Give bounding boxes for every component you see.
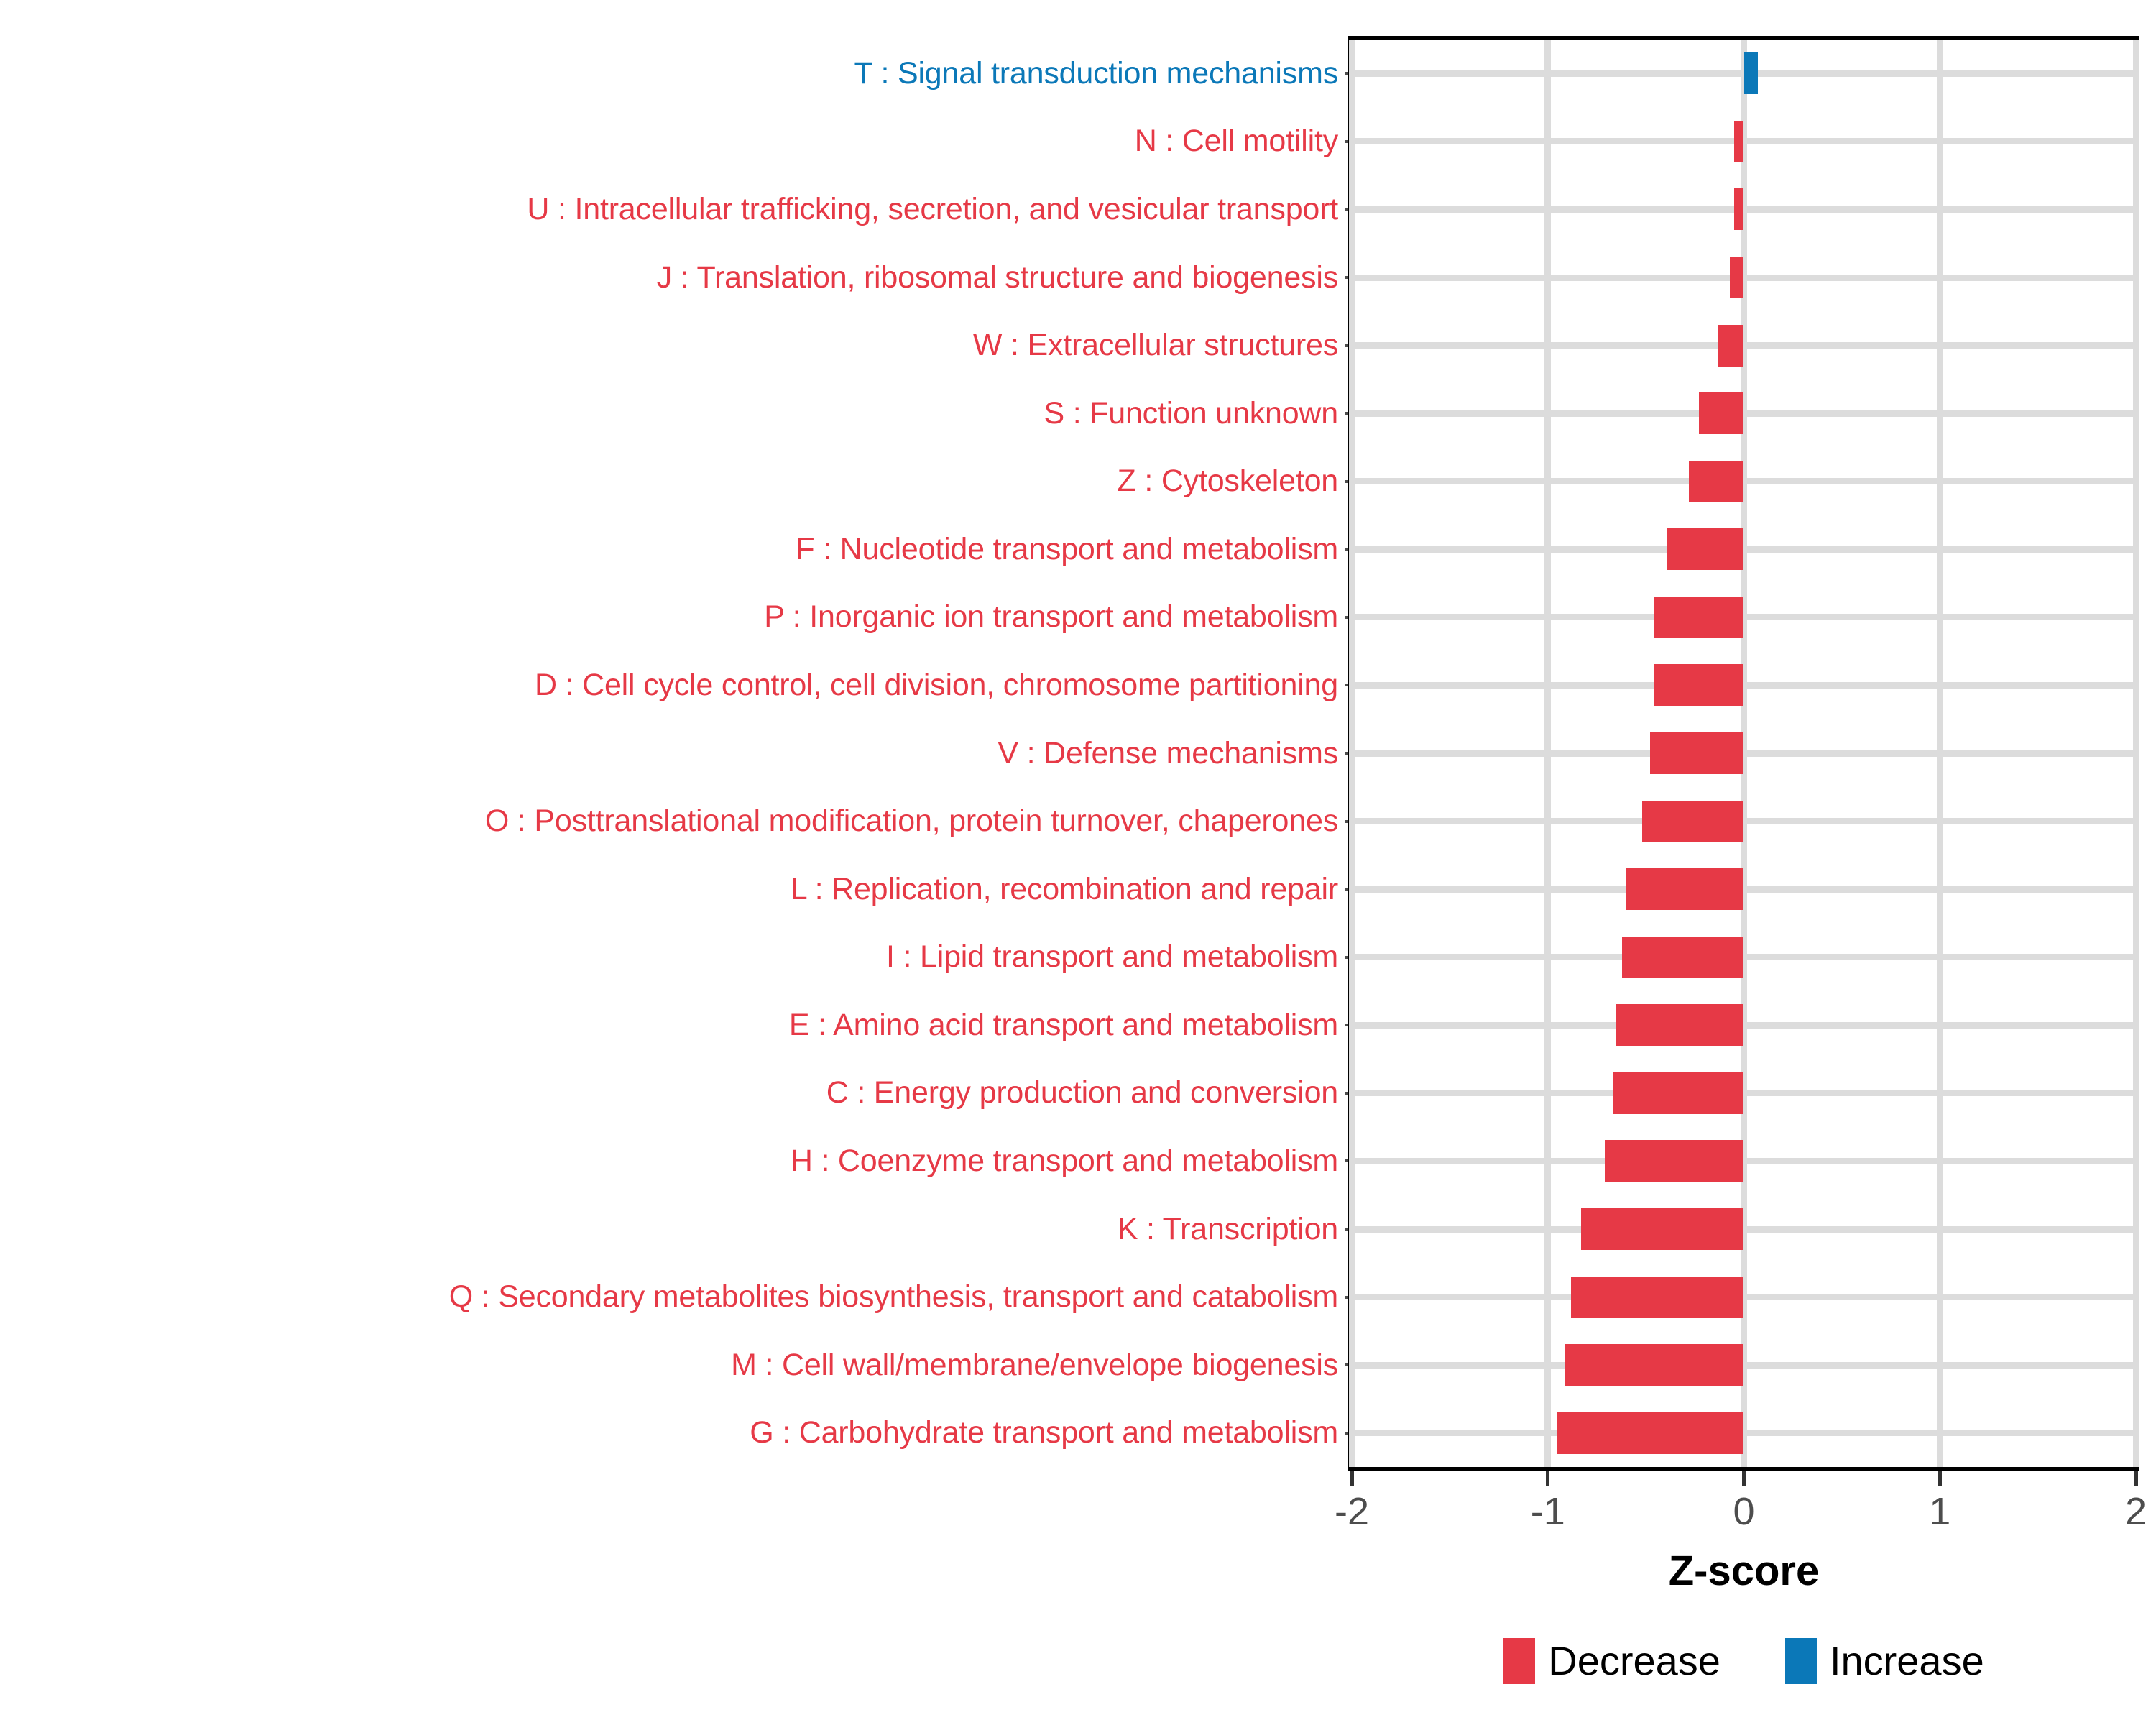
y-axis-label-row: G : Carbohydrate transport and metabolis… xyxy=(0,1409,1345,1458)
bar[interactable] xyxy=(1689,461,1743,502)
y-axis-label: E : Amino acid transport and metabolism xyxy=(789,1010,1338,1041)
y-axis-label: O : Posttranslational modification, prot… xyxy=(485,806,1338,837)
y-axis-label-row: S : Function unknown xyxy=(0,389,1345,438)
y-axis-label-row: I : Lipid transport and metabolism xyxy=(0,933,1345,982)
y-axis-label-row: J : Translation, ribosomal structure and… xyxy=(0,253,1345,302)
y-gridline xyxy=(1352,546,2136,553)
y-axis-label: L : Replication, recombination and repai… xyxy=(791,874,1338,905)
y-axis-label: H : Coenzyme transport and metabolism xyxy=(791,1146,1338,1177)
y-axis-label-row: L : Replication, recombination and repai… xyxy=(0,865,1345,914)
y-axis-label-row: H : Coenzyme transport and metabolism xyxy=(0,1136,1345,1185)
bar[interactable] xyxy=(1622,937,1743,978)
x-axis-tick-label: 1 xyxy=(1929,1489,1950,1534)
legend-swatch-icon xyxy=(1785,1638,1817,1684)
y-axis-label: I : Lipid transport and metabolism xyxy=(886,942,1338,972)
y-axis-label: U : Intracellular trafficking, secretion… xyxy=(527,194,1338,225)
y-axis-label-row: D : Cell cycle control, cell division, c… xyxy=(0,661,1345,709)
bar[interactable] xyxy=(1730,257,1743,298)
bar[interactable] xyxy=(1642,801,1744,842)
y-axis-label-row: P : Inorganic ion transport and metaboli… xyxy=(0,593,1345,642)
y-axis-label: Q : Secondary metabolites biosynthesis, … xyxy=(449,1282,1338,1312)
bar[interactable] xyxy=(1650,732,1744,774)
y-axis-label: P : Inorganic ion transport and metaboli… xyxy=(764,602,1338,632)
y-axis-label: M : Cell wall/membrane/envelope biogenes… xyxy=(731,1350,1338,1381)
y-gridline xyxy=(1352,750,2136,757)
x-axis-tick xyxy=(2134,1471,2138,1486)
y-axis-label: W : Extracellular structures xyxy=(973,330,1338,361)
y-gridline xyxy=(1352,1430,2136,1436)
bar[interactable] xyxy=(1616,1004,1743,1046)
bar[interactable] xyxy=(1667,528,1743,570)
y-axis-label: V : Defense mechanisms xyxy=(998,738,1338,769)
y-gridline xyxy=(1352,1158,2136,1164)
y-axis-label-row: V : Defense mechanisms xyxy=(0,729,1345,778)
y-axis-label-row: O : Posttranslational modification, prot… xyxy=(0,797,1345,846)
y-axis-label: N : Cell motility xyxy=(1135,126,1338,157)
x-axis-tick-label: 2 xyxy=(2125,1489,2147,1534)
y-axis-label-row: U : Intracellular trafficking, secretion… xyxy=(0,185,1345,234)
y-gridline xyxy=(1352,1294,2136,1300)
bar[interactable] xyxy=(1734,188,1744,230)
y-gridline xyxy=(1352,138,2136,144)
y-gridline xyxy=(1352,886,2136,893)
bar[interactable] xyxy=(1654,597,1743,638)
y-gridline xyxy=(1352,1226,2136,1233)
bar[interactable] xyxy=(1571,1276,1743,1318)
y-axis-label: K : Transcription xyxy=(1118,1214,1338,1245)
y-axis-label-row: Z : Cytoskeleton xyxy=(0,457,1345,506)
x-axis-tick xyxy=(1546,1471,1549,1486)
plot-area xyxy=(1352,40,2136,1467)
bar[interactable] xyxy=(1565,1344,1743,1386)
legend-item[interactable]: Decrease xyxy=(1503,1637,1720,1684)
x-axis-tick-label: 0 xyxy=(1733,1489,1754,1534)
y-gridline xyxy=(1352,682,2136,689)
bar[interactable] xyxy=(1744,52,1758,94)
legend-item[interactable]: Increase xyxy=(1785,1637,1984,1684)
y-axis-label-row: E : Amino acid transport and metabolism xyxy=(0,1000,1345,1049)
chart-legend: DecreaseIncrease xyxy=(1348,1637,2139,1684)
y-gridline xyxy=(1352,614,2136,620)
y-axis-label-row: C : Energy production and conversion xyxy=(0,1069,1345,1118)
bar[interactable] xyxy=(1718,325,1743,367)
x-axis-title: Z-score xyxy=(1348,1547,2139,1595)
y-axis-labels: T : Signal transduction mechanismsN : Ce… xyxy=(0,65,1345,1471)
bar[interactable] xyxy=(1581,1208,1743,1250)
y-axis-label-row: M : Cell wall/membrane/envelope biogenes… xyxy=(0,1340,1345,1389)
y-axis-label: J : Translation, ribosomal structure and… xyxy=(657,262,1338,293)
y-axis-label: C : Energy production and conversion xyxy=(826,1077,1338,1108)
legend-label: Increase xyxy=(1830,1637,1984,1684)
y-axis-label-row: N : Cell motility xyxy=(0,117,1345,166)
y-gridline xyxy=(1352,342,2136,349)
y-gridline xyxy=(1352,1090,2136,1096)
y-gridline xyxy=(1352,275,2136,281)
x-axis-tick-label: -2 xyxy=(1335,1489,1369,1534)
y-axis-label-row: F : Nucleotide transport and metabolism xyxy=(0,525,1345,574)
legend-label: Decrease xyxy=(1548,1637,1720,1684)
bar[interactable] xyxy=(1557,1412,1743,1454)
y-axis-label: T : Signal transduction mechanisms xyxy=(854,58,1338,89)
y-axis-label: G : Carbohydrate transport and metabolis… xyxy=(750,1417,1338,1448)
plot-panel xyxy=(1348,36,2139,1471)
bar[interactable] xyxy=(1613,1072,1744,1114)
cog-zscore-chart: T : Signal transduction mechanismsN : Ce… xyxy=(0,0,2156,1725)
y-axis-label: F : Nucleotide transport and metabolism xyxy=(796,534,1338,565)
y-gridline xyxy=(1352,954,2136,960)
x-axis-tick xyxy=(1350,1471,1354,1486)
y-axis-label-row: T : Signal transduction mechanisms xyxy=(0,49,1345,98)
y-axis-label: S : Function unknown xyxy=(1044,398,1338,429)
bar[interactable] xyxy=(1734,121,1744,162)
bar[interactable] xyxy=(1654,664,1743,706)
x-axis-tick xyxy=(1742,1471,1746,1486)
y-gridline xyxy=(1352,410,2136,417)
x-axis-tick xyxy=(1938,1471,1942,1486)
y-axis-label: Z : Cytoskeleton xyxy=(1118,466,1338,497)
y-gridline xyxy=(1352,206,2136,213)
y-axis-label-row: W : Extracellular structures xyxy=(0,321,1345,370)
x-axis-tick-label: -1 xyxy=(1531,1489,1565,1534)
y-gridline xyxy=(1352,1022,2136,1029)
y-axis-label-row: K : Transcription xyxy=(0,1205,1345,1253)
y-gridline xyxy=(1352,1362,2136,1368)
y-gridline xyxy=(1352,818,2136,824)
bar[interactable] xyxy=(1699,392,1744,434)
y-gridline xyxy=(1352,478,2136,484)
y-axis-label: D : Cell cycle control, cell division, c… xyxy=(535,670,1338,701)
y-axis-label-row: Q : Secondary metabolites biosynthesis, … xyxy=(0,1273,1345,1322)
bar[interactable] xyxy=(1605,1140,1744,1182)
bar[interactable] xyxy=(1626,868,1744,910)
legend-swatch-icon xyxy=(1503,1638,1535,1684)
